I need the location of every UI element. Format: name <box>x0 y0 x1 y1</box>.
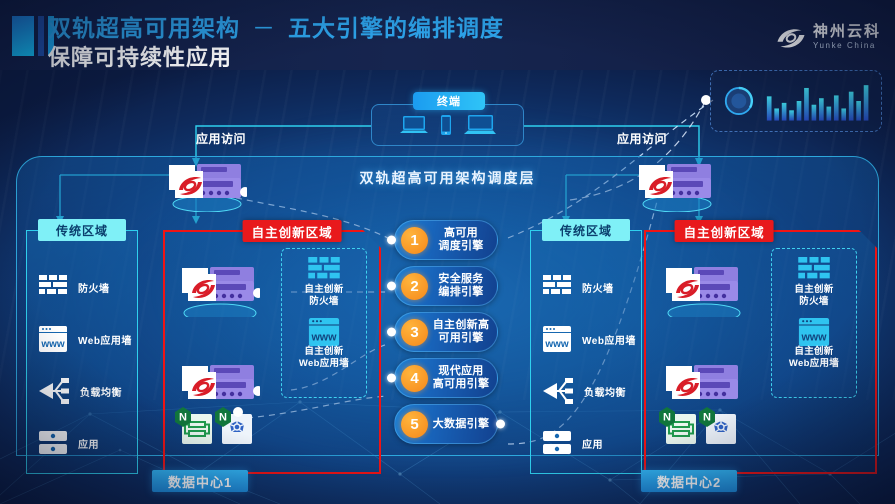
zone-item-label: 应用 <box>582 436 603 451</box>
engine-list: 1 高可用 调度引擎 2 安全服务 编排引擎 3 自主创新高 可用引擎 4 <box>394 220 506 450</box>
engine-connector-dot <box>387 282 396 291</box>
laptop-icon <box>463 113 497 137</box>
svg-text:N: N <box>219 412 227 424</box>
title-subtitle: 五大引擎的编排调度 <box>288 15 504 41</box>
datacenter-tag-1: 数据中心1 <box>152 470 248 492</box>
engine-connector-dot <box>387 236 396 245</box>
server-stack-icon <box>660 363 744 407</box>
firewall-brick-icon <box>39 275 67 299</box>
svg-text:N: N <box>703 412 711 424</box>
datacenter-tag-2: 数据中心2 <box>641 470 737 492</box>
server-stack-icon <box>660 265 744 317</box>
svg-text:www: www <box>544 339 569 350</box>
kubernetes-icon: N <box>698 404 740 446</box>
zone-item-label: Web应用墙 <box>78 332 132 347</box>
title-line2: 保障可持续性应用 <box>48 44 504 72</box>
slide-canvas: 双轨超高可用架构－五大引擎的编排调度 保障可持续性应用 神州云科 Yunke C… <box>0 0 895 504</box>
subzone-caption: 自主创新 Web应用墙 <box>789 346 839 370</box>
engine-label: 自主创新高 可用引擎 <box>428 319 497 345</box>
server-stack-icon <box>633 160 717 212</box>
web-app-wall-icon: www <box>798 318 830 346</box>
engine-label: 安全服务 编排引擎 <box>428 273 497 299</box>
innovation-subzone-dc2: 自主创新 防火墙 www 自主创新 Web应用墙 <box>771 248 857 398</box>
web-app-wall-icon: www <box>543 326 571 352</box>
engine-connector-dot <box>496 420 505 429</box>
zone-item-web-app-wall: www Web应用墙 <box>531 313 641 365</box>
innovation-subzone-dc1: 自主创新 防火墙 www 自主创新 Web应用墙 <box>281 248 367 398</box>
engine-label: 现代应用 高可用引擎 <box>428 365 497 391</box>
engine-connector-dot <box>387 328 396 337</box>
phone-icon <box>440 114 452 136</box>
zone-item-web-app-wall: www Web应用墙 <box>27 313 137 365</box>
zone-item-firewall: 防火墙 <box>27 261 137 313</box>
access-label-left: 应用访问 <box>196 130 246 147</box>
engine-number: 1 <box>401 227 428 254</box>
traditional-zone-tag: 传统区域 <box>38 219 126 241</box>
svg-text:www: www <box>800 332 827 344</box>
bar-chart-icon <box>765 80 869 122</box>
load-balancer-icon <box>39 378 69 404</box>
engine-label: 高可用 调度引擎 <box>428 227 497 253</box>
zone-item-application: 应用 <box>531 417 641 469</box>
engine-item-3[interactable]: 3 自主创新高 可用引擎 <box>394 312 498 352</box>
logo-text-en: Yunke China <box>813 40 881 51</box>
subzone-caption: 自主创新 防火墙 <box>304 284 343 308</box>
engine-label: 大数据引擎 <box>428 418 497 431</box>
engine-number: 3 <box>401 319 428 346</box>
engine-number: 4 <box>401 365 428 392</box>
zone-item-label: 应用 <box>78 436 99 451</box>
firewall-brick-icon <box>307 257 341 284</box>
laptop-icon <box>399 114 429 136</box>
access-label-right: 应用访问 <box>617 130 667 147</box>
engine-number: 2 <box>401 273 428 300</box>
engine-number: 5 <box>401 411 428 438</box>
firewall-brick-icon <box>543 275 571 299</box>
svg-text:www: www <box>310 332 337 344</box>
microservice-icon: N <box>658 404 700 446</box>
terminal-device-box <box>371 104 524 146</box>
microservice-icon: N <box>174 404 216 446</box>
subzone-caption: 自主创新 Web应用墙 <box>299 346 349 370</box>
engine-item-2[interactable]: 2 安全服务 编排引擎 <box>394 266 498 306</box>
title-main: 双轨超高可用架构 <box>48 15 240 41</box>
logo-text-cn: 神州云科 <box>813 24 881 40</box>
zone-item-firewall: 防火墙 <box>531 261 641 313</box>
subzone-caption: 自主创新 防火墙 <box>794 284 833 308</box>
server-app-icon <box>543 431 571 455</box>
zone-item-label: 负载均衡 <box>584 384 626 399</box>
server-stack-icon <box>163 160 247 212</box>
scheduling-layer-title: 双轨超高可用架构调度层 <box>0 168 895 188</box>
zone-item-label: 防火墙 <box>582 280 614 295</box>
traditional-zone-dc1: 传统区域 防火墙 www Web应用墙 负载均衡 应用 <box>26 230 138 474</box>
svg-text:www: www <box>40 339 65 350</box>
web-app-wall-icon: www <box>308 318 340 346</box>
web-app-wall-icon: www <box>39 326 67 352</box>
server-stack-icon <box>176 265 260 317</box>
load-balancer-icon <box>543 378 573 404</box>
stats-panel <box>710 70 882 132</box>
engine-item-1[interactable]: 1 高可用 调度引擎 <box>394 220 498 260</box>
brand-logo: 神州云科 Yunke China <box>776 24 881 51</box>
engine-connector-dot <box>387 374 396 383</box>
zone-item-label: Web应用墙 <box>582 332 636 347</box>
engine-item-4[interactable]: 4 现代应用 高可用引擎 <box>394 358 498 398</box>
zone-item-load-balancer: 负载均衡 <box>27 365 137 417</box>
zone-item-application: 应用 <box>27 417 137 469</box>
kubernetes-icon: N <box>214 404 256 446</box>
svg-text:N: N <box>179 412 187 424</box>
innovation-zone-tag-dc2: 自主创新区域 <box>675 220 774 242</box>
server-stack-icon <box>176 363 260 407</box>
traditional-zone-dc2: 传统区域 防火墙 www Web应用墙 负载均衡 应用 <box>530 230 642 474</box>
svg-text:N: N <box>663 412 671 424</box>
title-separator: － <box>240 15 288 41</box>
swoosh-logo-icon <box>776 25 806 51</box>
server-app-icon <box>39 431 67 455</box>
terminal-label: 终端 <box>413 92 485 110</box>
engine-item-5[interactable]: 5 大数据引擎 <box>394 404 498 444</box>
donut-chart-icon <box>723 84 755 118</box>
zone-item-label: 防火墙 <box>78 280 110 295</box>
firewall-brick-icon <box>797 257 831 284</box>
traditional-zone-tag: 传统区域 <box>542 219 630 241</box>
innovation-zone-tag-dc1: 自主创新区域 <box>243 220 342 242</box>
zone-item-load-balancer: 负载均衡 <box>531 365 641 417</box>
zone-item-label: 负载均衡 <box>80 384 122 399</box>
page-title: 双轨超高可用架构－五大引擎的编排调度 保障可持续性应用 <box>48 14 504 72</box>
